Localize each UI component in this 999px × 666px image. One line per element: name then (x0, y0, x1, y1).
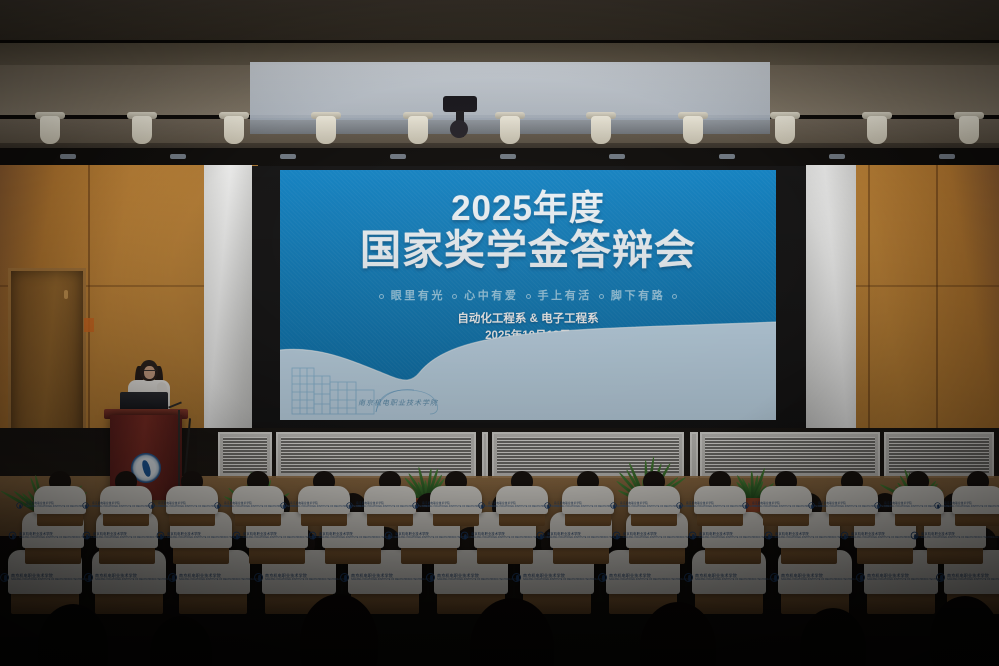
school-logo-text: 南京机电职业技术学院NANJING VOCATIONAL INSTITUTE O… (523, 573, 602, 581)
chair-cover[interactable]: 南京机电职业技术学院NANJING VOCATIONAL INSTITUTE O… (562, 486, 614, 514)
ceiling-downlight-icon (683, 116, 703, 144)
ceiling-mini-led-icon (280, 154, 296, 159)
ceiling-downlight-icon (959, 116, 979, 144)
chair-cover[interactable]: 南京机电职业技术学院NANJING VOCATIONAL INSTITUTE O… (232, 486, 284, 514)
wall-switch-plate[interactable] (84, 318, 94, 332)
chair-cover[interactable]: 南京机电职业技术学院NANJING VOCATIONAL INSTITUTE O… (826, 486, 878, 514)
chair-base (763, 512, 809, 526)
school-logo-mark-icon (16, 502, 22, 508)
school-logo-subtext: NANJING VOCATIONAL INSTITUTE OF MECHATRO… (179, 578, 258, 581)
slogan-separator-dot (672, 294, 677, 299)
chair-cover[interactable]: 南京机电职业技术学院NANJING VOCATIONAL INSTITUTE O… (694, 486, 746, 514)
school-logo-text: 南京机电职业技术学院NANJING VOCATIONAL INSTITUTE O… (781, 573, 860, 581)
school-logo-mark-icon (340, 573, 349, 582)
school-logo-text: 南京机电职业技术学院NANJING VOCATIONAL INSTITUTE O… (11, 573, 90, 581)
ceiling-downlight-icon (500, 116, 520, 144)
school-logo-mark-icon (280, 502, 286, 508)
school-logo-subtext: NANJING VOCATIONAL INSTITUTE OF MECHATRO… (944, 505, 999, 508)
school-logo-mark-icon (157, 531, 165, 539)
chair-base (249, 546, 305, 564)
chair-base (553, 546, 609, 564)
vent-louvers (705, 437, 875, 473)
chair-school-logo: 南京机电职业技术学院NANJING VOCATIONAL INSTITUTE O… (254, 573, 344, 582)
school-logo-text: 南京机电职业技术学院NANJING VOCATIONAL INSTITUTE O… (95, 573, 174, 581)
school-logo-mark-icon (544, 502, 550, 508)
chair-school-logo: 南京机电职业技术学院NANJING VOCATIONAL INSTITUTE O… (512, 573, 602, 582)
ceiling-mini-led-icon (390, 154, 406, 159)
projector-lens-icon (450, 120, 468, 138)
ceiling-downlight-icon (591, 116, 611, 144)
school-logo-mark-icon (9, 531, 17, 539)
chair-base (629, 546, 685, 564)
slogan-item: 眼里有光 (391, 290, 445, 302)
chair-school-logo: 南京机电职业技术学院NANJING VOCATIONAL INSTITUTE O… (770, 573, 860, 582)
foreground-audience-head (150, 616, 212, 666)
chair-base (433, 512, 479, 526)
school-logo-mark-icon (934, 502, 940, 508)
school-logo-mark-icon (613, 531, 621, 539)
ceiling-mini-led-icon (939, 154, 955, 159)
slide-title: 2025年度 国家奖学金答辩会 (280, 190, 776, 273)
chair-school-logo: 南京机电职业技术学院NANJING VOCATIONAL INSTITUTE O… (340, 573, 430, 582)
slogan-separator-dot (379, 294, 384, 299)
school-logo-mark-icon (676, 502, 682, 508)
vent-louvers (223, 437, 267, 473)
ceiling-mini-led-icon (500, 154, 516, 159)
foreground-audience-head (800, 608, 866, 666)
school-logo-mark-icon (856, 573, 865, 582)
school-logo-mark-icon (874, 502, 880, 508)
chair-cover[interactable]: 南京机电职业技术学院NANJING VOCATIONAL INSTITUTE O… (166, 486, 218, 514)
chair-base (695, 592, 763, 614)
slide-calligraphy-watermark: 南京机电职业技术学院 (358, 398, 438, 408)
chair-base (367, 512, 413, 526)
school-logo-text: 南京机电职业技术学院NANJING VOCATIONAL INSTITUTE O… (351, 573, 430, 581)
chair-base (705, 546, 761, 564)
slogan-item: 脚下有路 (611, 290, 665, 302)
ceiling-downlight-icon (775, 116, 795, 144)
slide-title-line2: 国家奖学金答辩会 (280, 229, 776, 272)
school-logo-subtext: NANJING VOCATIONAL INSTITUTE OF MECHATRO… (265, 578, 344, 581)
air-vent-grille (218, 432, 272, 478)
ceiling-mini-led-icon (170, 154, 186, 159)
slogan-item: 心中有爱 (464, 290, 518, 302)
school-logo-subtext: NANJING VOCATIONAL INSTITUTE OF MECHATRO… (781, 578, 860, 581)
auditorium-scene: 2025年度 国家奖学金答辩会 眼里有光心中有爱手上有活脚下有路 自动化工程系 … (0, 0, 999, 666)
ceiling (0, 0, 999, 168)
school-logo-mark-icon (82, 502, 88, 508)
chair-school-logo: 南京机电职业技术学院NANJING VOCATIONAL INSTITUTE O… (856, 573, 946, 582)
door-handle-icon[interactable] (64, 290, 68, 299)
school-logo-mark-icon (461, 531, 469, 539)
school-logo-mark-icon (426, 573, 435, 582)
chair-school-logo: 南京机电职业技术学院NANJING VOCATIONAL INSTITUTE O… (0, 573, 90, 582)
school-logo-text: 南京机电职业技术学院NANJING VOCATIONAL INSTITUTE O… (921, 532, 999, 539)
school-logo-text: 南京机电职业技术学院NANJING VOCATIONAL INSTITUTE O… (265, 573, 344, 581)
school-logo-mark-icon (841, 531, 849, 539)
school-logo-mark-icon (911, 531, 919, 539)
chair-cover[interactable]: 南京机电职业技术学院NANJING VOCATIONAL INSTITUTE O… (298, 486, 350, 514)
school-logo-mark-icon (689, 531, 697, 539)
slide-wave-graphic (280, 320, 776, 420)
glasses-icon (144, 370, 156, 373)
school-logo-mark-icon (148, 502, 154, 508)
school-logo-mark-icon (598, 573, 607, 582)
school-logo-subtext: NANJING VOCATIONAL INSTITUTE OF MECHATRO… (11, 578, 90, 581)
school-logo-subtext: NANJING VOCATIONAL INSTITUTE OF MECHATRO… (921, 536, 999, 539)
chair-school-logo: 南京机电职业技术学院NANJING VOCATIONAL INSTITUTE O… (936, 573, 999, 582)
school-logo-mark-icon (214, 502, 220, 508)
chair-base (401, 546, 457, 564)
chair-base (697, 512, 743, 526)
school-logo-mark-icon (478, 502, 484, 508)
ceiling-downlight-icon (132, 116, 152, 144)
school-logo-mark-icon (684, 573, 693, 582)
chair-base (99, 546, 155, 564)
chair-school-logo: 南京机电职业技术学院NANJING VOCATIONAL INSTITUTE O… (598, 573, 688, 582)
chair-base (301, 512, 347, 526)
chair-base (857, 546, 913, 564)
chair-base (179, 592, 247, 614)
school-logo-mark-icon (83, 531, 91, 539)
school-logo-text: 南京机电职业技术学院NANJING VOCATIONAL INSTITUTE O… (947, 573, 999, 581)
chair-school-logo: 南京机电职业技术学院NANJING VOCATIONAL INSTITUTE O… (168, 573, 258, 582)
ceiling-mini-led-icon (60, 154, 76, 159)
chair-base (235, 512, 281, 526)
slogan-separator-dot (526, 294, 531, 299)
chair-base (477, 546, 533, 564)
chair-cover[interactable]: 南京机电职业技术学院NANJING VOCATIONAL INSTITUTE O… (364, 486, 416, 514)
chair-base (631, 512, 677, 526)
school-logo-mark-icon (808, 502, 814, 508)
chair-cover[interactable]: 南京机电职业技术学院NANJING VOCATIONAL INSTITUTE O… (100, 486, 152, 514)
slide-slogan: 眼里有光心中有爱手上有活脚下有路 (280, 287, 776, 303)
school-logo-subtext: NANJING VOCATIONAL INSTITUTE OF MECHATRO… (947, 578, 999, 581)
ceiling-downlight-icon (40, 116, 60, 144)
slogan-separator-dot (599, 294, 604, 299)
ceiling-band-1 (0, 0, 999, 40)
projector-mount-icon (443, 96, 477, 112)
school-logo-text: 南京机电职业技术学院NANJING VOCATIONAL INSTITUTE O… (695, 573, 774, 581)
chair-base (955, 512, 999, 526)
school-logo-text: 南京机电职业技术学院NANJING VOCATIONAL INSTITUTE O… (944, 502, 999, 508)
chair-cover[interactable]: 南京机电职业技术学院NANJING VOCATIONAL INSTITUTE O… (34, 486, 86, 514)
school-logo-mark-icon (512, 573, 521, 582)
chair-base (169, 512, 215, 526)
air-vent-grille (482, 432, 488, 478)
ceiling-downlight-icon (408, 116, 428, 144)
school-logo-mark-icon (610, 502, 616, 508)
foreground-audience-head (930, 596, 999, 666)
chair-base (565, 512, 611, 526)
school-logo-text: 南京机电职业技术学院NANJING VOCATIONAL INSTITUTE O… (179, 573, 258, 581)
school-logo-subtext: NANJING VOCATIONAL INSTITUTE OF MECHATRO… (695, 578, 774, 581)
ceiling-downlight-icon (867, 116, 887, 144)
school-logo-subtext: NANJING VOCATIONAL INSTITUTE OF MECHATRO… (523, 578, 602, 581)
chair-base (867, 592, 935, 614)
school-logo-mark-icon (0, 573, 9, 582)
ceiling-downlight-icon (316, 116, 336, 144)
ceiling-mini-led-icon (609, 154, 625, 159)
school-logo-subtext: NANJING VOCATIONAL INSTITUTE OF MECHATRO… (95, 578, 174, 581)
air-vent-grille (690, 432, 698, 478)
chair-base (499, 512, 545, 526)
chair-school-logo: 南京机电职业技术学院NANJING VOCATIONAL INSTITUTE O… (910, 531, 999, 540)
school-logo-mark-icon (412, 502, 418, 508)
school-logo-mark-icon (254, 573, 263, 582)
projection-screen: 2025年度 国家奖学金答辩会 眼里有光心中有爱手上有活脚下有路 自动化工程系 … (280, 170, 776, 420)
school-logo-subtext: NANJING VOCATIONAL INSTITUTE OF MECHATRO… (867, 578, 946, 581)
school-logo-subtext: NANJING VOCATIONAL INSTITUTE OF MECHATRO… (609, 578, 688, 581)
chair-cover[interactable]: 南京机电职业技术学院NANJING VOCATIONAL INSTITUTE O… (496, 486, 548, 514)
school-logo-subtext: NANJING VOCATIONAL INSTITUTE OF MECHATRO… (351, 578, 430, 581)
school-logo-text: 南京机电职业技术学院NANJING VOCATIONAL INSTITUTE O… (609, 573, 688, 581)
chair-base (781, 546, 837, 564)
chair-base (25, 546, 81, 564)
chair-school-logo: 南京机电职业技术学院NANJING VOCATIONAL INSTITUTE O… (84, 573, 174, 582)
slide-title-line1: 2025年度 (280, 190, 776, 227)
chair-school-logo: 南京机电职业技术学院NANJING VOCATIONAL INSTITUTE O… (933, 501, 999, 510)
slogan-item: 手上有活 (538, 290, 592, 302)
chair-cover[interactable]: 南京机电职业技术学院NANJING VOCATIONAL INSTITUTE O… (952, 486, 999, 514)
chair-base (103, 512, 149, 526)
chair-cover[interactable]: 南京机电职业技术学院NANJING VOCATIONAL INSTITUTE O… (628, 486, 680, 514)
chair-cover[interactable]: 南京机电职业技术学院NANJING VOCATIONAL INSTITUTE O… (760, 486, 812, 514)
audience-seating: 南京机电职业技术学院NANJING VOCATIONAL INSTITUTE O… (0, 476, 999, 666)
chair-base (95, 592, 163, 614)
school-logo-mark-icon (537, 531, 545, 539)
chair-base (927, 546, 983, 564)
chair-cover[interactable]: 南京机电职业技术学院NANJING VOCATIONAL INSTITUTE O… (430, 486, 482, 514)
chair-base (37, 512, 83, 526)
chair-base (173, 546, 229, 564)
school-logo-mark-icon (346, 502, 352, 508)
ceiling-mini-led-icon (719, 154, 735, 159)
school-logo-text: 南京机电职业技术学院NANJING VOCATIONAL INSTITUTE O… (867, 573, 946, 581)
school-logo-subtext: NANJING VOCATIONAL INSTITUTE OF MECHATRO… (437, 578, 516, 581)
school-logo-mark-icon (233, 531, 241, 539)
school-logo-mark-icon (168, 573, 177, 582)
slogan-separator-dot (452, 294, 457, 299)
school-logo-mark-icon (309, 531, 317, 539)
chair-school-logo: 南京机电职业技术学院NANJING VOCATIONAL INSTITUTE O… (684, 573, 774, 582)
chair-base (829, 512, 875, 526)
chair-base (325, 546, 381, 564)
chair-school-logo: 南京机电职业技术学院NANJING VOCATIONAL INSTITUTE O… (426, 573, 516, 582)
school-logo-mark-icon (770, 573, 779, 582)
school-logo-mark-icon (84, 573, 93, 582)
chair-base (895, 512, 941, 526)
school-logo-mark-icon (385, 531, 393, 539)
ceiling-mini-led-icon (829, 154, 845, 159)
school-logo-mark-icon (936, 573, 945, 582)
school-logo-mark-icon (765, 531, 773, 539)
school-logo-text: 南京机电职业技术学院NANJING VOCATIONAL INSTITUTE O… (437, 573, 516, 581)
ceiling-downlight-icon (224, 116, 244, 144)
school-logo-mark-icon (742, 502, 748, 508)
